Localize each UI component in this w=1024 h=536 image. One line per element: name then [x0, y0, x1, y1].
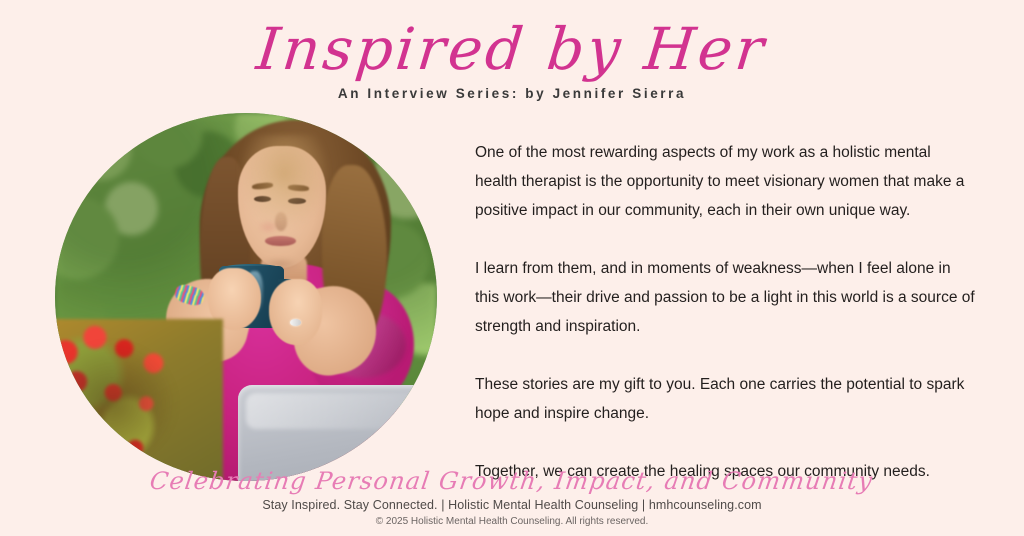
photo-flowers-shadow — [55, 341, 177, 466]
footer-tagline: Celebrating Personal Growth, Impact, and… — [148, 466, 875, 496]
photo-hand-right — [269, 279, 322, 345]
footer-info-line: Stay Inspired. Stay Connected. | Holisti… — [0, 498, 1024, 512]
photo-hair-highlight — [238, 135, 330, 231]
paragraph-2: I learn from them, and in moments of wea… — [475, 254, 975, 341]
paragraph-1: One of the most rewarding aspects of my … — [475, 138, 975, 225]
photo-laptop-sheen — [246, 393, 437, 430]
poster-canvas: Inspired by Her An Interview Series: by … — [0, 0, 1024, 536]
photo-image — [55, 113, 437, 481]
page-subtitle: An Interview Series: by Jennifer Sierra — [0, 86, 1024, 101]
footer-copyright: © 2025 Holistic Mental Health Counseling… — [0, 516, 1024, 527]
paragraph-3: These stories are my gift to you. Each o… — [475, 370, 975, 428]
profile-photo — [55, 113, 437, 481]
poster-header: Inspired by Her An Interview Series: by … — [0, 20, 1024, 101]
photo-lips — [265, 236, 296, 246]
page-title: Inspired by Her — [254, 20, 769, 78]
poster-footer: Celebrating Personal Growth, Impact, and… — [0, 466, 1024, 527]
body-copy: One of the most rewarding aspects of my … — [475, 138, 975, 486]
